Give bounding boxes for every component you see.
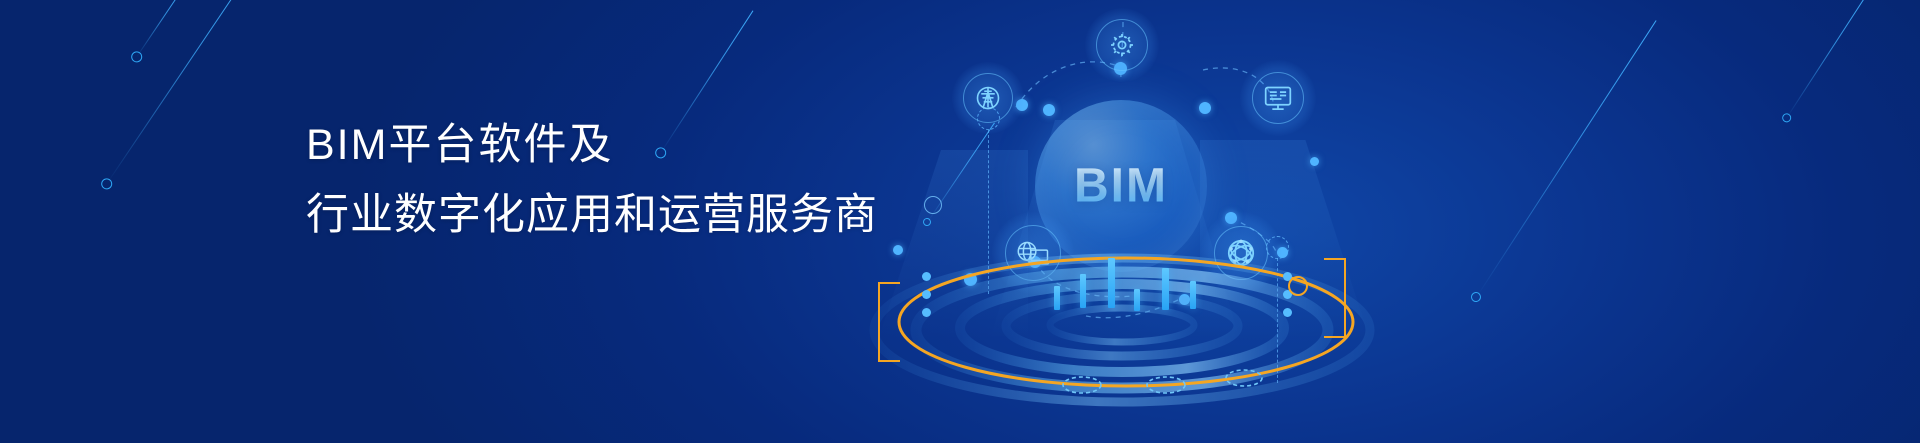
hollow-node-floor	[924, 196, 942, 214]
bar-1	[1080, 274, 1086, 308]
bim-illustration: BIM	[840, 0, 1400, 443]
tridot-right-3	[1283, 308, 1292, 317]
tridot-left-2	[922, 290, 931, 299]
tridot-left-1	[922, 272, 931, 281]
bar-3	[1134, 289, 1140, 311]
bar-6	[1054, 286, 1060, 310]
bar-2	[1108, 258, 1115, 308]
bracket-left	[878, 282, 900, 362]
floor-rings	[840, 0, 1400, 443]
tridot-left-3	[922, 308, 931, 317]
hero-banner: BIM平台软件及 行业数字化应用和运营服务商 BIM	[0, 0, 1920, 443]
floor-dot-small	[893, 245, 903, 255]
bar-5	[1190, 281, 1196, 309]
bar-4	[1162, 268, 1169, 310]
bracket-right	[1324, 258, 1346, 338]
orange-ring	[1288, 276, 1308, 296]
